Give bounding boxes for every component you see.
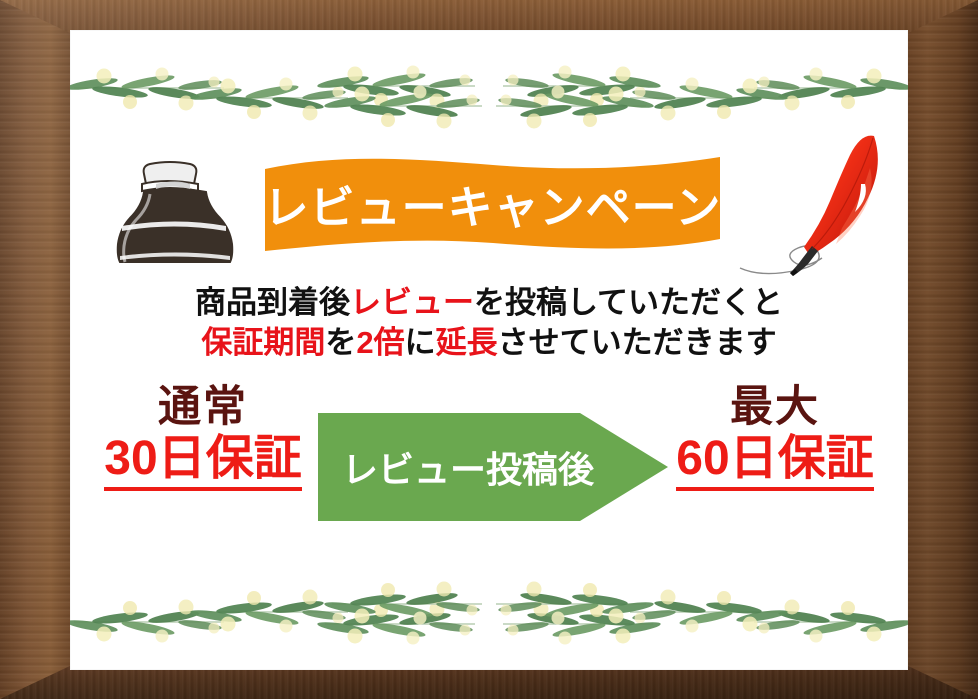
banner-canvas: レビューキャンペーン 商品到着後レビューを投稿していただくと 保証期間を2倍に延… [70,30,908,670]
frame-plank-top [0,0,978,34]
warranty-normal-term: 30日保証 [104,434,301,490]
frame-plank-bottom [0,665,978,699]
review-arrow: レビュー投稿後 [318,407,668,527]
headline-l2-seg-6: させていただきます [498,325,777,360]
olive-branch-icon-bottom [70,580,908,664]
campaign-ribbon: レビューキャンペーン [265,155,720,253]
headline-line-1: 商品到着後レビューを投稿していただくと [70,283,908,323]
headline-l1-seg-1: 商品到着後 [195,285,350,320]
warranty-normal-kicker: 通常 [78,385,328,430]
headline-l2-seg-5: 延長 [436,325,498,360]
warranty-comparison-row: 通常 30日保証 レビュー投稿後 最大 60日保証 [70,385,908,550]
headline-line-2: 保証期間を2倍に延長させていただきます [70,323,908,363]
warranty-extended-column: 最大 60日保証 [650,385,900,491]
warranty-extended-kicker: 最大 [650,385,900,430]
warranty-extended-term: 60日保証 [676,434,873,490]
headline-l1-seg-2: レビュー [350,285,474,320]
headline-l2-seg-1: 保証期間 [201,325,325,360]
frame-plank-left [0,0,72,699]
review-campaign-banner: レビューキャンペーン 商品到着後レビューを投稿していただくと 保証期間を2倍に延… [0,0,978,699]
red-quill-feather-icon [734,128,894,278]
olive-branch-icon-top [70,46,908,130]
frame-plank-right [906,0,978,699]
campaign-ribbon-title: レビューキャンペーン [265,155,720,253]
headline-l2-seg-4: に [405,325,436,360]
headline-l2-seg-3: 2倍 [356,325,404,360]
headline-text: 商品到着後レビューを投稿していただくと 保証期間を2倍に延長させていただきます [70,283,908,362]
headline-l2-seg-2: を [325,325,356,360]
ink-bottle-icon [100,140,240,270]
review-arrow-label: レビュー投稿後 [318,407,618,527]
warranty-normal-column: 通常 30日保証 [78,385,328,491]
headline-l1-seg-3: を投稿していただくと [474,285,783,320]
